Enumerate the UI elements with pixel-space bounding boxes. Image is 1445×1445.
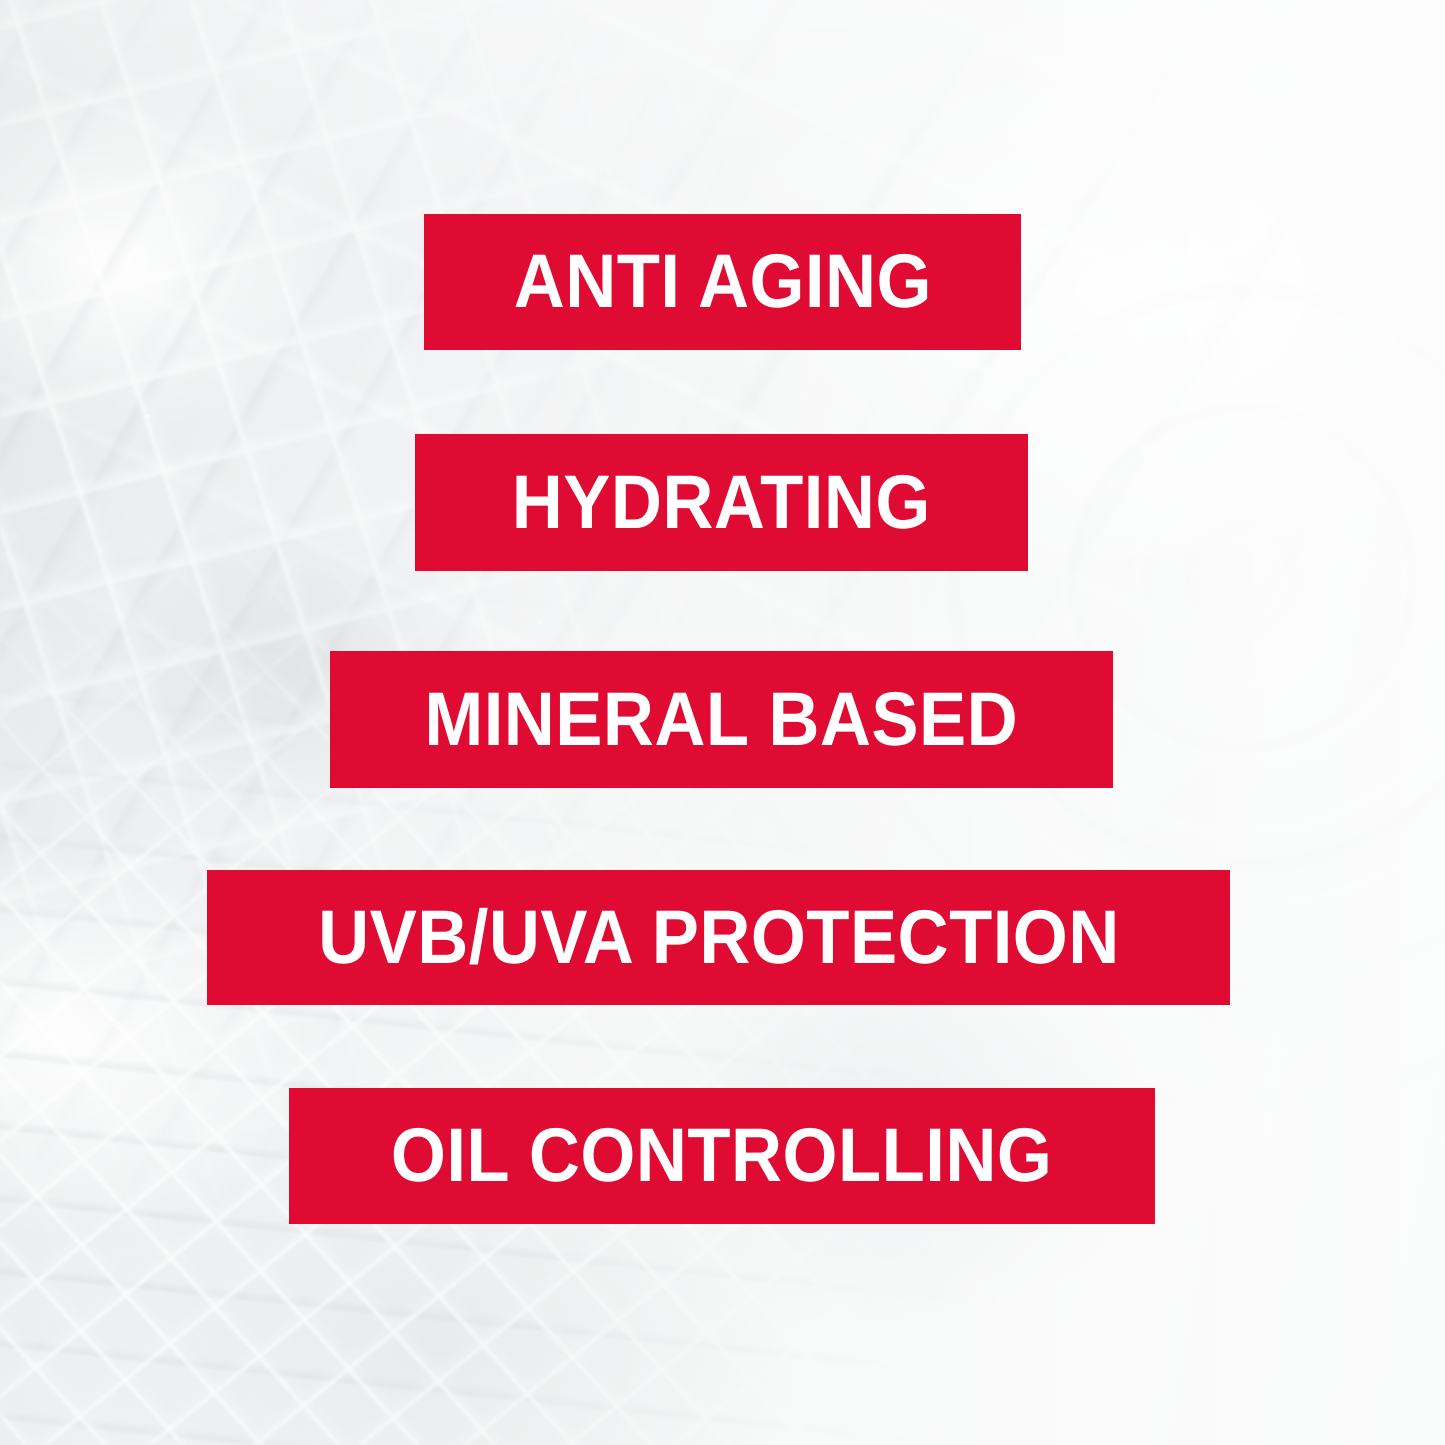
benefit-label-hydrating: HYDRATING [512, 465, 931, 541]
benefit-graphic: ANTI AGING HYDRATING MINERAL BASED UVB/U… [0, 0, 1445, 1445]
benefit-banner-stack: ANTI AGING HYDRATING MINERAL BASED UVB/U… [0, 0, 1445, 1445]
benefit-banner-hydrating: HYDRATING [415, 434, 1028, 571]
benefit-banner-anti-aging: ANTI AGING [424, 214, 1021, 350]
benefit-banner-oil-controlling: OIL CONTROLLING [289, 1088, 1155, 1224]
benefit-label-mineral-based: MINERAL BASED [425, 682, 1019, 758]
benefit-banner-uvb-uva-protection: UVB/UVA PROTECTION [207, 870, 1230, 1005]
benefit-label-anti-aging: ANTI AGING [513, 244, 931, 320]
benefit-label-oil-controlling: OIL CONTROLLING [391, 1118, 1052, 1194]
benefit-label-uvb-uva-protection: UVB/UVA PROTECTION [318, 900, 1120, 976]
benefit-banner-mineral-based: MINERAL BASED [330, 651, 1113, 788]
